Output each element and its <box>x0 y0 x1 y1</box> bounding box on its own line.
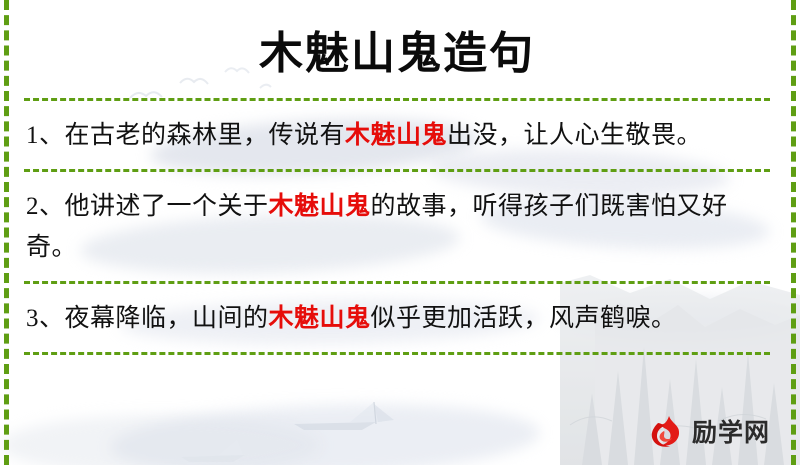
sentence-text-before: 夜幕降临，山间的 <box>65 305 269 332</box>
keyword-highlight: 木魅山鬼 <box>269 305 371 332</box>
watermark-brand-text: 励学网 <box>692 421 770 446</box>
sentence-item-3: 3、夜幕降临，山间的木魅山鬼似乎更加活跃，风声鹤唳。 <box>22 284 772 352</box>
divider-bottom <box>24 352 770 355</box>
keyword-highlight: 木魅山鬼 <box>345 122 447 149</box>
keyword-highlight: 木魅山鬼 <box>269 193 371 220</box>
sentence-text-before: 他讲述了一个关于 <box>65 193 269 220</box>
sentence-index: 3、 <box>26 305 65 332</box>
sentence-text-after: 似乎更加活跃，风声鹤唳。 <box>371 305 677 332</box>
sentence-index: 1、 <box>26 122 65 149</box>
page-root: 木魅山鬼造句 1、在古老的森林里，传说有木魅山鬼出没，让人心生敬畏。 2、他讲述… <box>0 0 800 465</box>
watermark-logo: 励学网 <box>645 413 770 453</box>
sentence-item-2: 2、他讲述了一个关于木魅山鬼的故事，听得孩子们既害怕又好奇。 <box>22 172 772 281</box>
sentence-text-after: 出没，让人心生敬畏。 <box>447 122 702 149</box>
sentence-item-1: 1、在古老的森林里，传说有木魅山鬼出没，让人心生敬畏。 <box>22 101 772 169</box>
sentence-index: 2、 <box>26 193 65 220</box>
red-swirl-flame-icon <box>645 413 685 453</box>
content-area: 木魅山鬼造句 1、在古老的森林里，传说有木魅山鬼出没，让人心生敬畏。 2、他讲述… <box>0 0 800 465</box>
sentence-text-before: 在古老的森林里，传说有 <box>65 122 346 149</box>
page-title: 木魅山鬼造句 <box>22 0 772 98</box>
